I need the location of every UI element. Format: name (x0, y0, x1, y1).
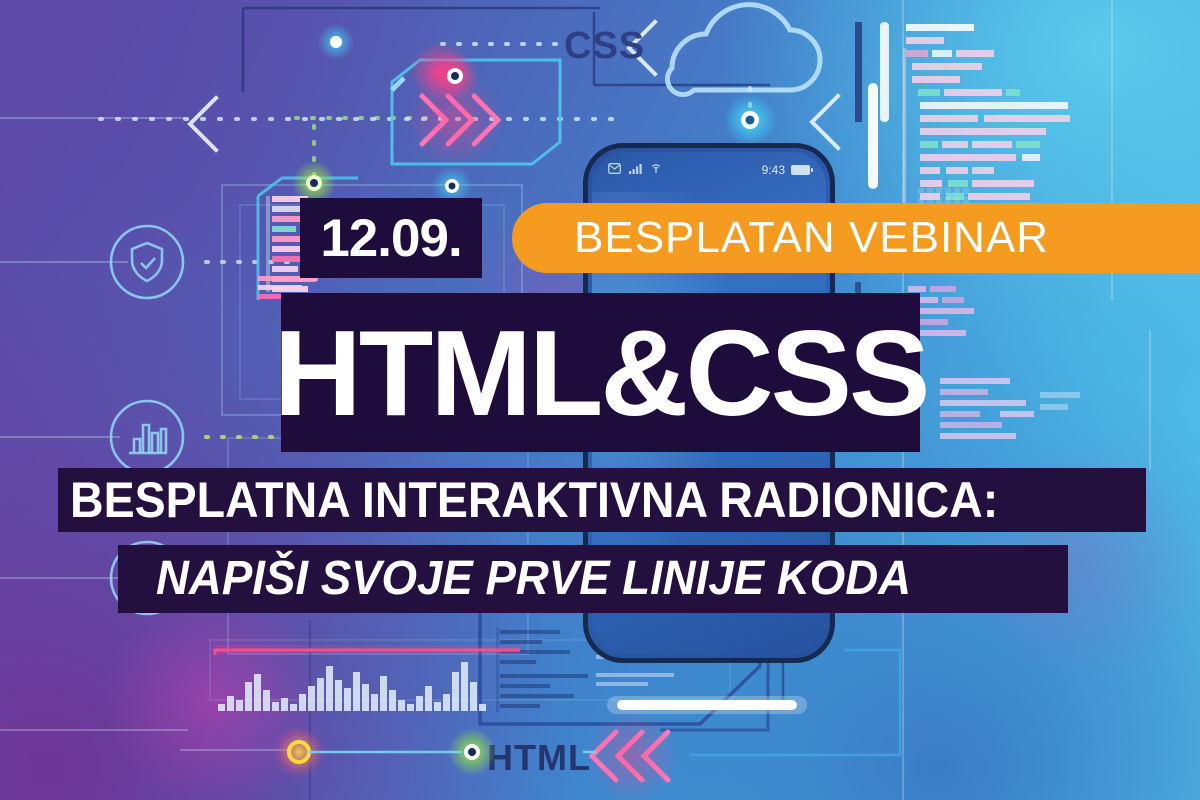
phone-status-bar: 9:43 (608, 161, 810, 179)
free-webinar-ribbon: BESPLATAN VEBINAR (512, 203, 1200, 273)
code-lines-icon-right-3 (940, 378, 1080, 439)
webinar-promo-banner: CSS HTML (0, 0, 1200, 800)
css-label: CSS (564, 25, 645, 67)
battery-icon (791, 165, 810, 175)
envelope-icon (608, 161, 621, 179)
main-title-block: HTML&CSS (281, 293, 920, 452)
subtitle-line1-block: BESPLATNA INTERAKTIVNA RADIONICA: (58, 468, 1146, 532)
bar-chart-icon (111, 401, 183, 473)
main-title-label: HTML&CSS (274, 312, 928, 434)
subtitle-line1-label: BESPLATNA INTERAKTIVNA RADIONICA: (70, 475, 998, 525)
subtitle-line2-block: NAPIŠI SVOJE PRVE LINIJE KODA (118, 545, 1068, 613)
chevron-left-icon-3 (812, 96, 838, 148)
signal-bars-icon (629, 161, 642, 179)
subtitle-line2-label: NAPIŠI SVOJE PRVE LINIJE KODA (156, 555, 911, 603)
cloud-icon (667, 5, 820, 95)
event-date-badge: 12.09. (300, 198, 482, 278)
code-lines-icon (855, 22, 1070, 218)
ribbon-label: BESPLATAN VEBINAR (574, 213, 1049, 263)
chevron-left-icon (190, 98, 216, 150)
phone-status-time: 9:43 (762, 163, 785, 177)
wifi-icon (650, 161, 662, 179)
html-label: HTML (487, 737, 591, 778)
event-date-label: 12.09. (320, 212, 461, 265)
